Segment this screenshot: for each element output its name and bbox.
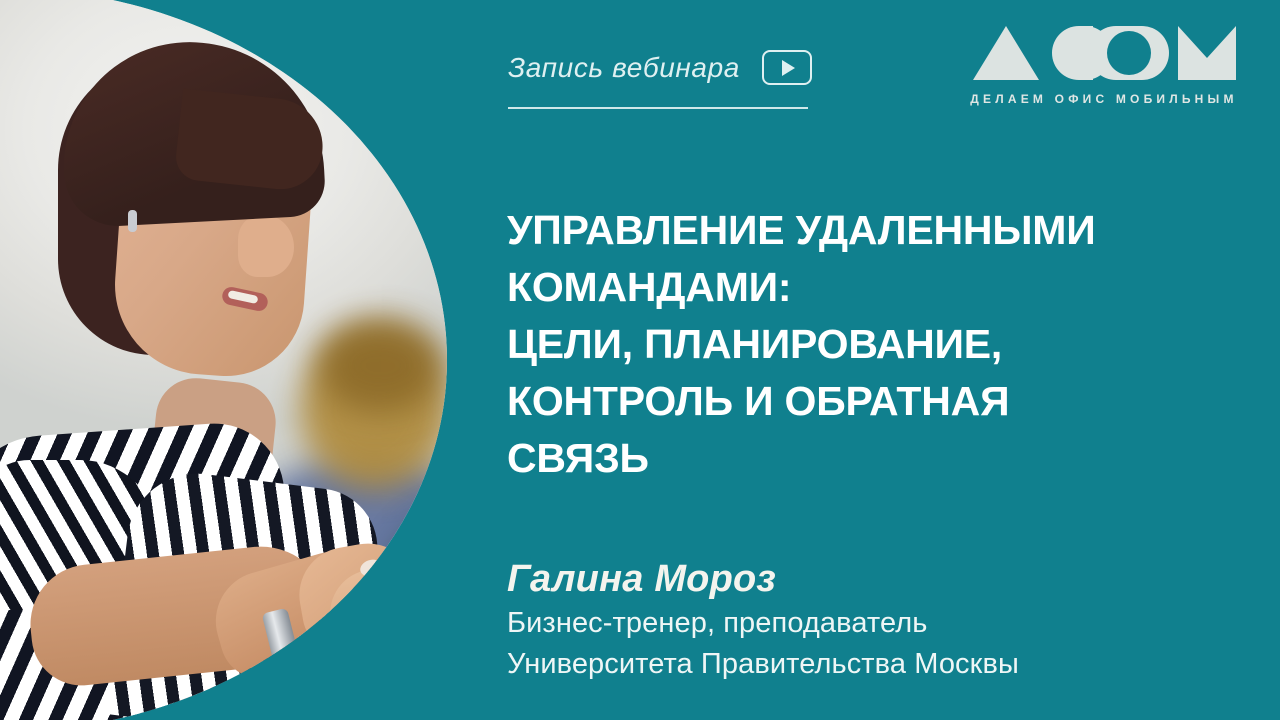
title-line-4: КОНТРОЛЬ И ОБРАТНАЯ [507, 373, 1207, 430]
brand-logo: ДЕЛАЕМ ОФИС МОБИЛЬНЫМ [966, 18, 1240, 114]
logo-tagline: ДЕЛАЕМ ОФИС МОБИЛЬНЫМ [968, 92, 1240, 106]
speaker-role-line-2: Университета Правительства Москвы [507, 644, 1227, 685]
webinar-title-slide: Запись вебинара УПРАВЛЕНИЕ УДАЛЕННЫМИ КО… [0, 0, 1280, 720]
slide-content: Запись вебинара УПРАВЛЕНИЕ УДАЛЕННЫМИ КО… [0, 0, 1280, 720]
webinar-badge-label: Запись вебинара [508, 52, 740, 84]
speaker-name: Галина Мороз [507, 555, 1227, 603]
title-line-2: КОМАНДАМИ: [507, 259, 1207, 316]
speaker-role-line-1: Бизнес-тренер, преподаватель [507, 603, 1227, 644]
webinar-badge: Запись вебинара [508, 50, 812, 85]
logo-wordmark-acom [966, 18, 1240, 88]
badge-divider [508, 107, 808, 109]
title-line-3: ЦЕЛИ, ПЛАНИРОВАНИЕ, [507, 316, 1207, 373]
play-triangle-glyph [782, 60, 795, 76]
title-line-1: УПРАВЛЕНИЕ УДАЛЕННЫМИ [507, 202, 1207, 259]
page-title: УПРАВЛЕНИЕ УДАЛЕННЫМИ КОМАНДАМИ: ЦЕЛИ, П… [507, 202, 1207, 487]
play-icon [762, 50, 812, 85]
speaker-info: Галина Мороз Бизнес-тренер, преподавател… [507, 555, 1227, 685]
title-line-5: СВЯЗЬ [507, 430, 1207, 487]
